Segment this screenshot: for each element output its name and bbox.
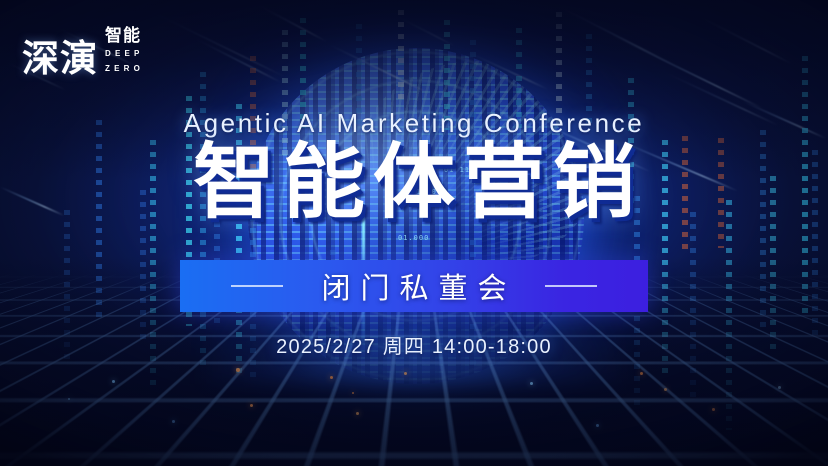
conference-poster: 01.000 0000 1 001 0 88188 10100 01 11 深演… [0, 0, 828, 466]
ribbon-dash-right [545, 285, 597, 287]
logo-right-stack: 智能 DEEP ZERO [105, 28, 144, 77]
logo-brand-cn: 深演 [22, 40, 98, 77]
ribbon-label: 闭门私董会 [311, 265, 516, 307]
logo-brand-en-line2: ZERO [105, 63, 144, 75]
page-title: 智能体营销 [0, 140, 828, 226]
logo-brand-sub-cn: 智能 [105, 28, 144, 45]
ribbon-dash-left [231, 285, 283, 287]
logo-brand-en-line1: DEEP [105, 48, 144, 60]
brand-logo: 深演 智能 DEEP ZERO [22, 28, 144, 77]
event-datetime: 2025/2/27 周四 14:00-18:00 [0, 330, 828, 359]
subtitle-ribbon: 闭门私董会 [180, 260, 648, 312]
